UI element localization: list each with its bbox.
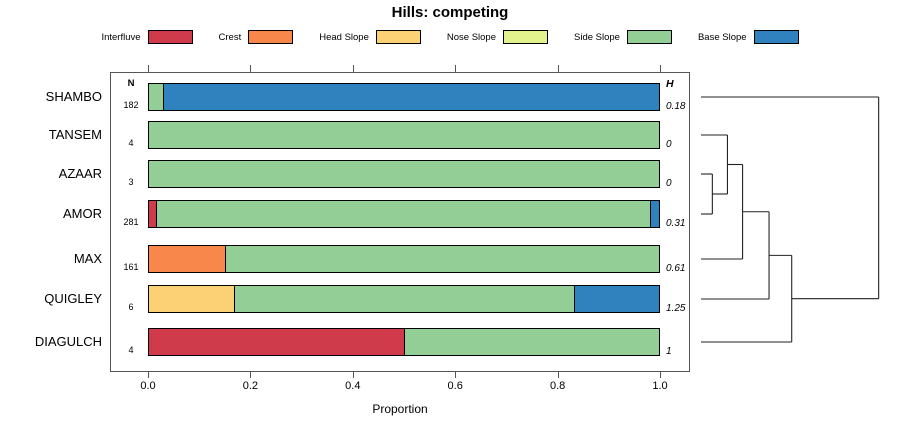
x-axis-label: Proportion xyxy=(110,402,690,416)
bar-segment xyxy=(234,286,574,312)
h-value: 0 xyxy=(666,139,672,150)
legend-item-label: Interfluve xyxy=(101,32,140,43)
n-value: 6 xyxy=(117,302,145,312)
y-category-label: AMOR xyxy=(63,206,102,221)
y-category-label: AZAAR xyxy=(59,166,102,181)
legend-color-swatch xyxy=(376,30,421,44)
top-tick xyxy=(353,65,354,72)
x-tick xyxy=(455,372,456,378)
bar-segment xyxy=(156,201,650,227)
legend-color-swatch xyxy=(148,30,193,44)
top-tick xyxy=(558,65,559,72)
bar-segment xyxy=(650,201,659,227)
h-value: 1.25 xyxy=(666,303,685,314)
legend-color-swatch xyxy=(754,30,799,44)
stacked-bar xyxy=(148,328,660,356)
h-value: 0.31 xyxy=(666,218,685,229)
stacked-bar xyxy=(148,121,660,149)
legend-color-swatch xyxy=(503,30,548,44)
x-tick xyxy=(660,372,661,378)
bar-segment xyxy=(149,161,659,187)
h-value: 0.61 xyxy=(666,263,685,274)
legend-item: Base Slope xyxy=(698,30,799,44)
legend-item: Crest xyxy=(219,30,294,44)
bar-segment xyxy=(163,84,659,110)
legend-item-label: Side Slope xyxy=(574,32,620,43)
bar-segment xyxy=(574,286,659,312)
n-value: 4 xyxy=(117,345,145,355)
bar-segment xyxy=(149,329,404,355)
legend-color-swatch xyxy=(248,30,293,44)
top-tick xyxy=(250,65,251,72)
legend-item: Interfluve xyxy=(101,30,192,44)
x-tick xyxy=(250,372,251,378)
x-tick-label: 0.6 xyxy=(448,380,463,392)
y-category-label: QUIGLEY xyxy=(44,291,102,306)
bar-segment xyxy=(149,122,659,148)
bar-segment xyxy=(149,246,225,272)
x-tick-label: 1.0 xyxy=(652,380,667,392)
legend-item: Side Slope xyxy=(574,30,672,44)
h-value: 1 xyxy=(666,346,672,357)
h-value: 0 xyxy=(666,178,672,189)
dendrogram-svg xyxy=(690,72,900,372)
bar-segment xyxy=(149,201,156,227)
n-value: 281 xyxy=(117,217,145,227)
y-category-label: DIAGULCH xyxy=(35,334,102,349)
bar-segment xyxy=(404,329,659,355)
legend-item-label: Nose Slope xyxy=(447,32,496,43)
y-category-label: SHAMBO xyxy=(46,89,102,104)
chart-legend: InterfluveCrestHead SlopeNose SlopeSide … xyxy=(0,26,900,48)
h-value: 0.18 xyxy=(666,101,685,112)
x-axis: 0.00.20.40.60.81.0 xyxy=(110,372,690,402)
stacked-bar xyxy=(148,285,660,313)
n-value: 161 xyxy=(117,262,145,272)
legend-color-swatch xyxy=(627,30,672,44)
dendrogram xyxy=(690,72,900,372)
top-tick xyxy=(660,65,661,72)
n-value: 4 xyxy=(117,138,145,148)
legend-item-label: Crest xyxy=(219,32,242,43)
legend-item-label: Head Slope xyxy=(319,32,369,43)
n-value: 182 xyxy=(117,100,145,110)
legend-item-label: Base Slope xyxy=(698,32,747,43)
x-tick-label: 0.0 xyxy=(140,380,155,392)
top-tick xyxy=(455,65,456,72)
h-column-header: H xyxy=(666,78,674,90)
bar-segment xyxy=(149,286,234,312)
stacked-bar xyxy=(148,83,660,111)
bar-segment xyxy=(225,246,659,272)
stacked-bar xyxy=(148,200,660,228)
x-tick xyxy=(148,372,149,378)
x-tick-label: 0.2 xyxy=(243,380,258,392)
legend-item: Head Slope xyxy=(319,30,421,44)
top-tick xyxy=(148,65,149,72)
y-category-label: TANSEM xyxy=(49,127,102,142)
chart-title: Hills: competing xyxy=(0,4,900,21)
x-tick-label: 0.4 xyxy=(345,380,360,392)
n-column-header: N xyxy=(119,78,143,89)
x-tick xyxy=(353,372,354,378)
chart-root: Hills: competing InterfluveCrestHead Slo… xyxy=(0,0,900,440)
n-value: 3 xyxy=(117,177,145,187)
stacked-bar xyxy=(148,245,660,273)
stacked-bar xyxy=(148,160,660,188)
bar-segment xyxy=(149,84,163,110)
x-tick-label: 0.8 xyxy=(550,380,565,392)
x-tick xyxy=(558,372,559,378)
legend-item: Nose Slope xyxy=(447,30,548,44)
y-category-label: MAX xyxy=(74,251,102,266)
